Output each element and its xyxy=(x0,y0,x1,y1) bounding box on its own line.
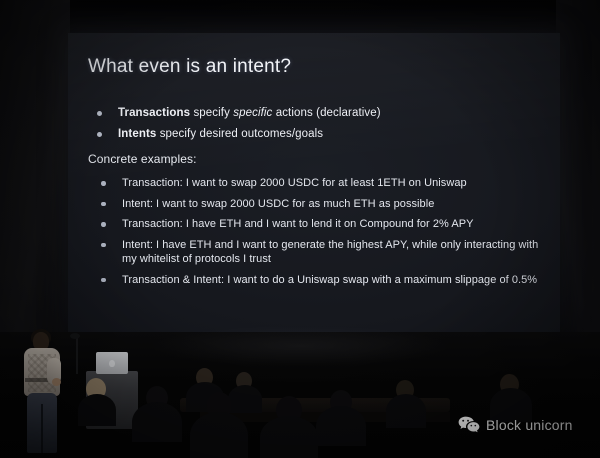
example-bullet-2: Intent: I want to swap 2000 USDC for as … xyxy=(94,197,550,212)
speaker-leg-gap xyxy=(41,404,43,453)
audience-body-5 xyxy=(190,412,248,458)
wall-right xyxy=(556,0,600,342)
slide-bullet-intents: Intents specify desired outcomes/goals xyxy=(94,127,544,142)
bullet-emphasis-specific: specific xyxy=(233,107,272,119)
audience-body-7 xyxy=(316,406,366,446)
example-bullet-3: Transaction: I have ETH and I want to le… xyxy=(94,217,550,232)
slide-content: What even is an intent? Transactions spe… xyxy=(68,33,560,333)
audience-body-8 xyxy=(386,394,426,428)
presentation-photo: What even is an intent? Transactions spe… xyxy=(0,0,600,458)
bullet-term-intents: Intents xyxy=(118,128,156,140)
audience-body-6 xyxy=(260,416,318,458)
light-haze xyxy=(150,326,450,366)
audience-body-2 xyxy=(228,385,262,413)
example-bullet-4: Intent: I have ETH and I want to generat… xyxy=(94,238,550,267)
laptop-logo-icon xyxy=(109,360,115,367)
watermark-label: Block unicorn xyxy=(486,417,573,433)
example-bullet-1: Transaction: I want to swap 2000 USDC fo… xyxy=(94,176,550,191)
speaker-hand xyxy=(52,378,61,386)
slide-section-label: Concrete examples: xyxy=(88,152,197,166)
microphone-stand xyxy=(76,336,78,374)
audience-body-3 xyxy=(78,394,116,426)
ceiling-area xyxy=(0,0,600,34)
microphone-icon xyxy=(70,333,80,339)
wall-left xyxy=(0,0,70,340)
bullet-text-actions: actions (declarative) xyxy=(272,107,380,119)
slide-top-bullet-list: Transactions specify specific actions (d… xyxy=(94,106,544,148)
watermark: Block unicorn xyxy=(458,416,573,434)
bullet-text-specify: specify xyxy=(190,107,233,119)
bullet-term-transactions: Transactions xyxy=(118,107,190,119)
projection-screen: What even is an intent? Transactions spe… xyxy=(68,33,560,333)
bullet-text-outcomes: specify desired outcomes/goals xyxy=(156,128,323,140)
audience-body-4 xyxy=(132,402,182,442)
slide-bullet-transactions: Transactions specify specific actions (d… xyxy=(94,106,544,121)
wechat-icon xyxy=(458,416,480,434)
slide-title: What even is an intent? xyxy=(88,56,291,78)
example-bullet-5: Transaction & Intent: I want to do a Uni… xyxy=(94,273,550,288)
slide-example-bullet-list: Transaction: I want to swap 2000 USDC fo… xyxy=(94,176,550,293)
